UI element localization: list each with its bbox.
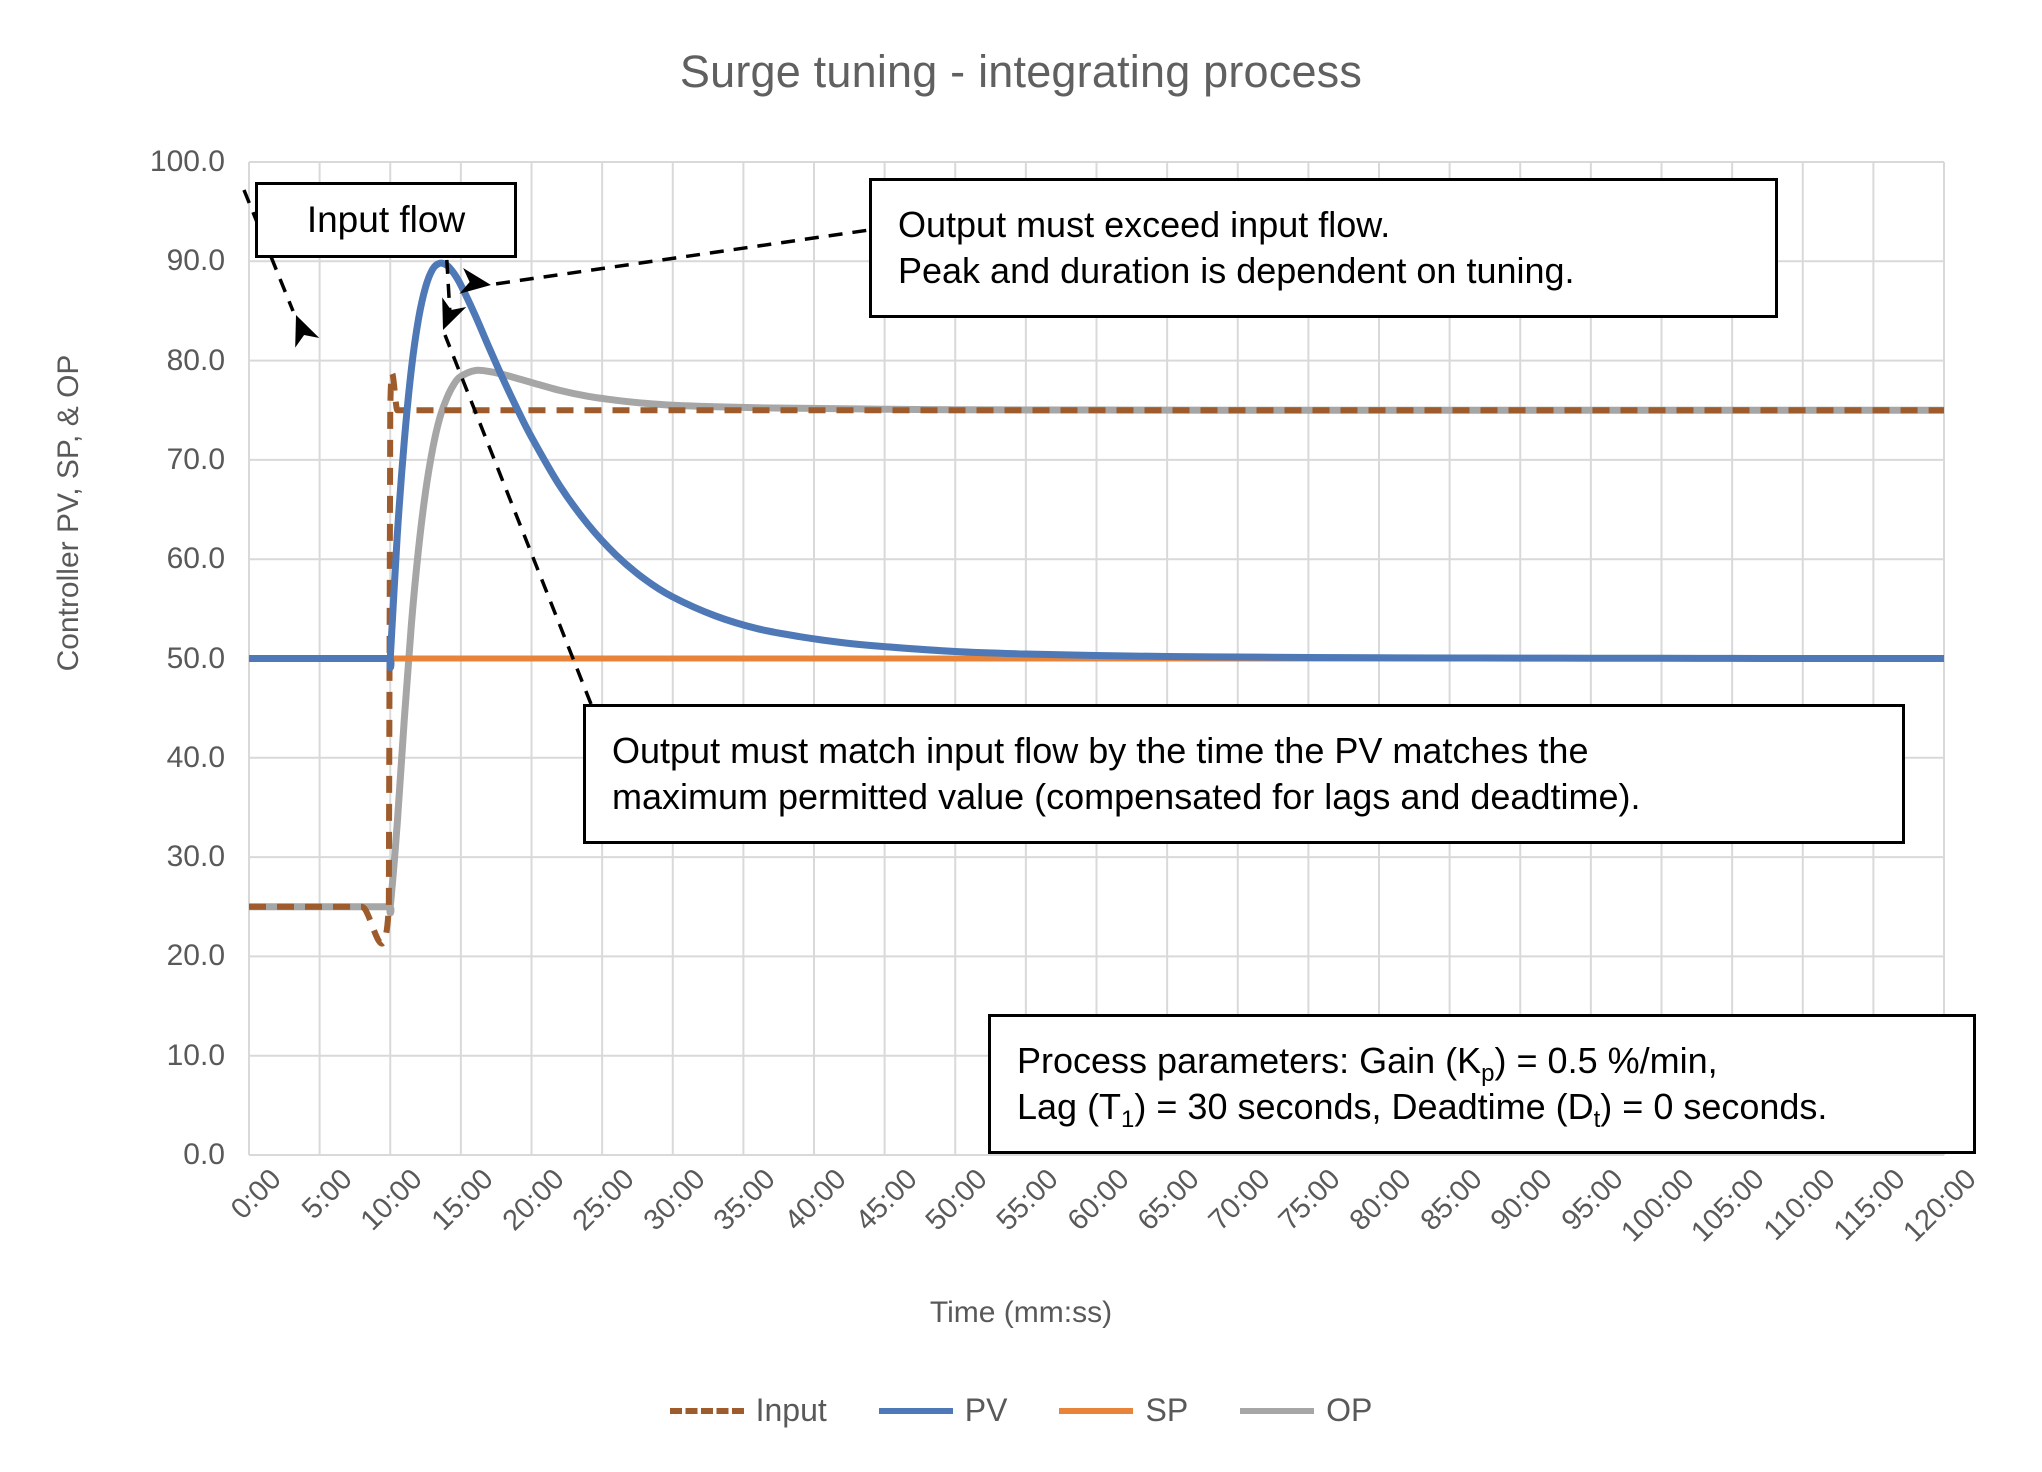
y-axis-tick-labels: 100.090.080.070.060.050.040.030.020.010.… [0, 162, 225, 1155]
x-tick-label: 45:00 [849, 1163, 924, 1238]
y-tick-label: 80.0 [167, 344, 225, 378]
y-tick-label: 70.0 [167, 443, 225, 477]
legend-swatch-sp [1059, 1408, 1133, 1414]
annotation-arrowhead [295, 315, 319, 348]
x-tick-label: 85:00 [1414, 1163, 1489, 1238]
x-tick-label: 65:00 [1132, 1163, 1207, 1238]
annotation-output-exceed: Output must exceed input flow. Peak and … [869, 178, 1778, 318]
y-tick-label: 30.0 [167, 840, 225, 874]
annotation-input-flow: Input flow [255, 182, 517, 258]
x-tick-label: 20:00 [496, 1163, 571, 1238]
x-tick-label: 25:00 [567, 1163, 642, 1238]
annotation-line: Process parameters: Gain (Kp) = 0.5 %/mi… [1017, 1038, 1947, 1084]
annotation-leader [495, 227, 890, 284]
x-tick-label: 50:00 [920, 1163, 995, 1238]
x-tick-label: 40:00 [779, 1163, 854, 1238]
x-tick-label: 60:00 [1061, 1163, 1136, 1238]
x-tick-label: 5:00 [296, 1163, 359, 1226]
y-tick-label: 90.0 [167, 244, 225, 278]
y-tick-label: 10.0 [167, 1039, 225, 1073]
x-tick-label: 35:00 [708, 1163, 783, 1238]
x-axis-title: Time (mm:ss) [0, 1296, 2042, 1330]
annotation-line: Input flow [307, 196, 465, 243]
x-tick-label: 120:00 [1897, 1163, 1983, 1249]
x-tick-label: 70:00 [1202, 1163, 1277, 1238]
legend-label: OP [1326, 1392, 1372, 1429]
x-tick-label: 105:00 [1685, 1163, 1771, 1249]
x-tick-label: 0:00 [225, 1163, 288, 1226]
y-tick-label: 20.0 [167, 939, 225, 973]
x-tick-label: 80:00 [1344, 1163, 1419, 1238]
annotation-line: maximum permitted value (compensated for… [612, 774, 1876, 820]
annotation-line: Output must match input flow by the time… [612, 728, 1876, 774]
annotation-line: Lag (T1) = 30 seconds, Deadtime (Dt) = 0… [1017, 1084, 1947, 1130]
annotation-arrowhead [442, 297, 466, 330]
chart-title: Surge tuning - integrating process [0, 46, 2042, 98]
y-tick-label: 60.0 [167, 542, 225, 576]
y-tick-label: 40.0 [167, 741, 225, 775]
legend-label: SP [1145, 1392, 1188, 1429]
y-tick-label: 0.0 [183, 1138, 225, 1172]
x-tick-label: 55:00 [991, 1163, 1066, 1238]
y-tick-label: 100.0 [150, 145, 225, 179]
annotation-line: Peak and duration is dependent on tuning… [898, 248, 1749, 294]
legend-item-sp[interactable]: SP [1059, 1392, 1188, 1429]
x-tick-label: 10:00 [355, 1163, 430, 1238]
x-tick-label: 15:00 [426, 1163, 501, 1238]
annotation-leader-lines [244, 190, 890, 704]
x-tick-label: 110:00 [1758, 1163, 1843, 1248]
x-tick-label: 90:00 [1485, 1163, 1560, 1238]
y-tick-label: 50.0 [167, 642, 225, 676]
annotation-output-match: Output must match input flow by the time… [583, 704, 1905, 844]
legend-label: Input [756, 1392, 827, 1429]
annotation-process-parameters: Process parameters: Gain (Kp) = 0.5 %/mi… [988, 1014, 1976, 1154]
x-tick-label: 100:00 [1615, 1163, 1701, 1249]
annotation-line: Output must exceed input flow. [898, 202, 1749, 248]
legend-swatch-input [670, 1408, 744, 1414]
legend-swatch-op [1240, 1408, 1314, 1414]
chart-legend: InputPVSPOP [0, 1392, 2042, 1429]
x-tick-label: 75:00 [1273, 1163, 1348, 1238]
legend-item-input[interactable]: Input [670, 1392, 827, 1429]
legend-swatch-pv [879, 1408, 953, 1414]
x-tick-label: 30:00 [637, 1163, 712, 1238]
x-tick-label: 115:00 [1828, 1163, 1913, 1248]
annotation-arrowhead [459, 268, 491, 294]
x-axis-tick-labels: 0:005:0010:0015:0020:0025:0030:0035:0040… [249, 1163, 1944, 1293]
legend-item-op[interactable]: OP [1240, 1392, 1372, 1429]
chart-container: Surge tuning - integrating process Contr… [0, 0, 2042, 1472]
legend-label: PV [965, 1392, 1008, 1429]
legend-item-pv[interactable]: PV [879, 1392, 1008, 1429]
